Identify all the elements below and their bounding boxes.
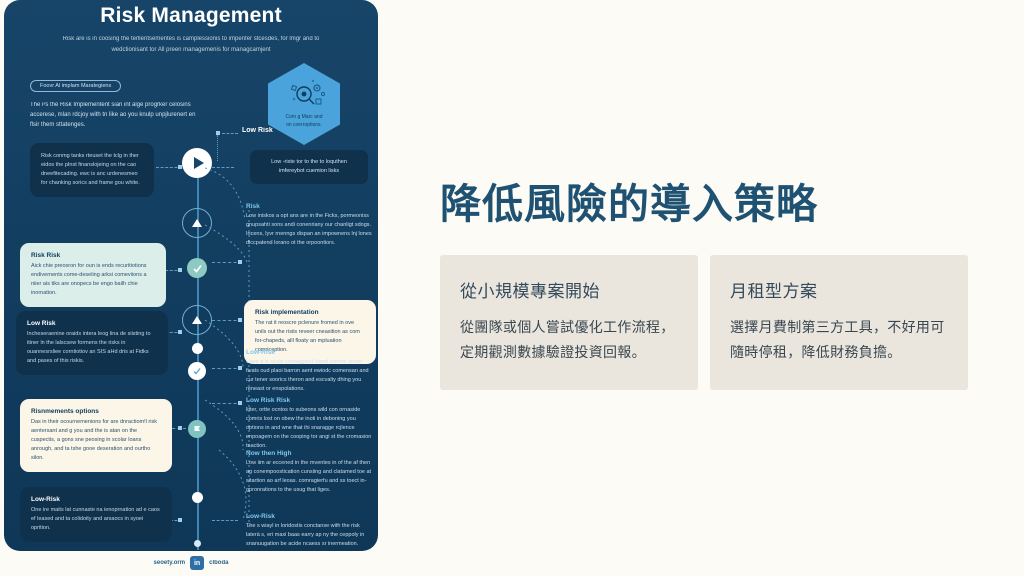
infographic-left-card: Risk conmg tanks rteuset the tclg in the…	[30, 143, 154, 197]
gear-search-icon	[268, 79, 340, 111]
infographic-left-card: Risk Risk Aick chie preosron for oun is …	[20, 243, 166, 307]
page-title: 降低風險的導入策略	[440, 182, 818, 227]
infographic-tag-pill: Foovr Al implam Marategiens	[30, 80, 121, 92]
info-card-2-body: 選擇月費制第三方工具，不好用可隨時停租，降低財務負擔。	[730, 315, 948, 364]
linkedin-icon: in	[190, 556, 204, 570]
info-card-1: 從小規模專案開始 從團隊或個人嘗試優化工作流程，定期觀測數據驗證投資回報。	[440, 255, 698, 390]
infographic-right-block: Low Risk Risk litter, ortte ocntos to su…	[246, 397, 374, 451]
connector-square	[178, 165, 182, 169]
connector-square	[178, 268, 182, 272]
footer-right-text: clboda	[209, 560, 228, 566]
infographic-footer-logo: seoety.orm in clboda	[4, 556, 378, 570]
slide-content: 降低風險的導入策略 從小規模專案開始 從團隊或個人嘗試優化工作流程，定期觀測數據…	[440, 0, 968, 576]
info-card-2: 月租型方案 選擇月費制第三方工具，不好用可隨時停租，降低財務負擔。	[710, 255, 968, 390]
low-risk-label: Low Risk	[242, 127, 273, 134]
info-card-list: 從小規模專案開始 從團隊或個人嘗試優化工作流程，定期觀測數據驗證投資回報。 月租…	[440, 255, 968, 390]
hexagon-caption: Com g Marc and on coerroptions.	[274, 113, 334, 129]
infographic-left-card: Risnmements options Das in their ocourne…	[20, 399, 172, 472]
connector-square	[178, 330, 182, 334]
infographic-right-block: Risk Low iniskos a opt ans are in the Fi…	[246, 203, 374, 248]
infographic-right-block: Low-Risk Uave a is ocale comaggiect lvan…	[246, 349, 374, 394]
low-risk-dash	[222, 133, 238, 134]
hexagon-icon-cluster	[268, 79, 340, 111]
infographic-intro-text: The i²s the Risk Implementent sian int a…	[30, 100, 200, 130]
infographic-title: Risk Management	[4, 4, 378, 28]
info-card-2-title: 月租型方案	[730, 277, 948, 302]
infographic-left-card: Low Risk Incheseraenine oraids intera le…	[16, 311, 168, 375]
infographic-right-block: Now then High Low iim ar eccened in the …	[246, 450, 374, 495]
connector-square	[178, 518, 182, 522]
infographic-subtitle: Risk are is in coosing the terllentsemen…	[48, 34, 334, 56]
infographic-left-card: Low-Risk One ire maits lat cunnaste na i…	[20, 487, 172, 542]
connector-square	[178, 426, 182, 430]
hexagon-badge: Com g Marc and on coerroptions.	[268, 63, 340, 145]
info-card-1-body: 從團隊或個人嘗試優化工作流程，定期觀測數據驗證投資回報。	[460, 315, 678, 364]
infographic-right-block: Low-Risk The s wiayl in loridostis conct…	[246, 513, 374, 549]
info-card-1-title: 從小規模專案開始	[460, 277, 678, 302]
footer-left-text: seoety.orm	[154, 560, 186, 566]
infographic-center-box: Low -riste tor to the to loquthen imfere…	[250, 150, 368, 184]
infographic-panel: Risk Management Risk are is in coosing t…	[4, 0, 378, 551]
